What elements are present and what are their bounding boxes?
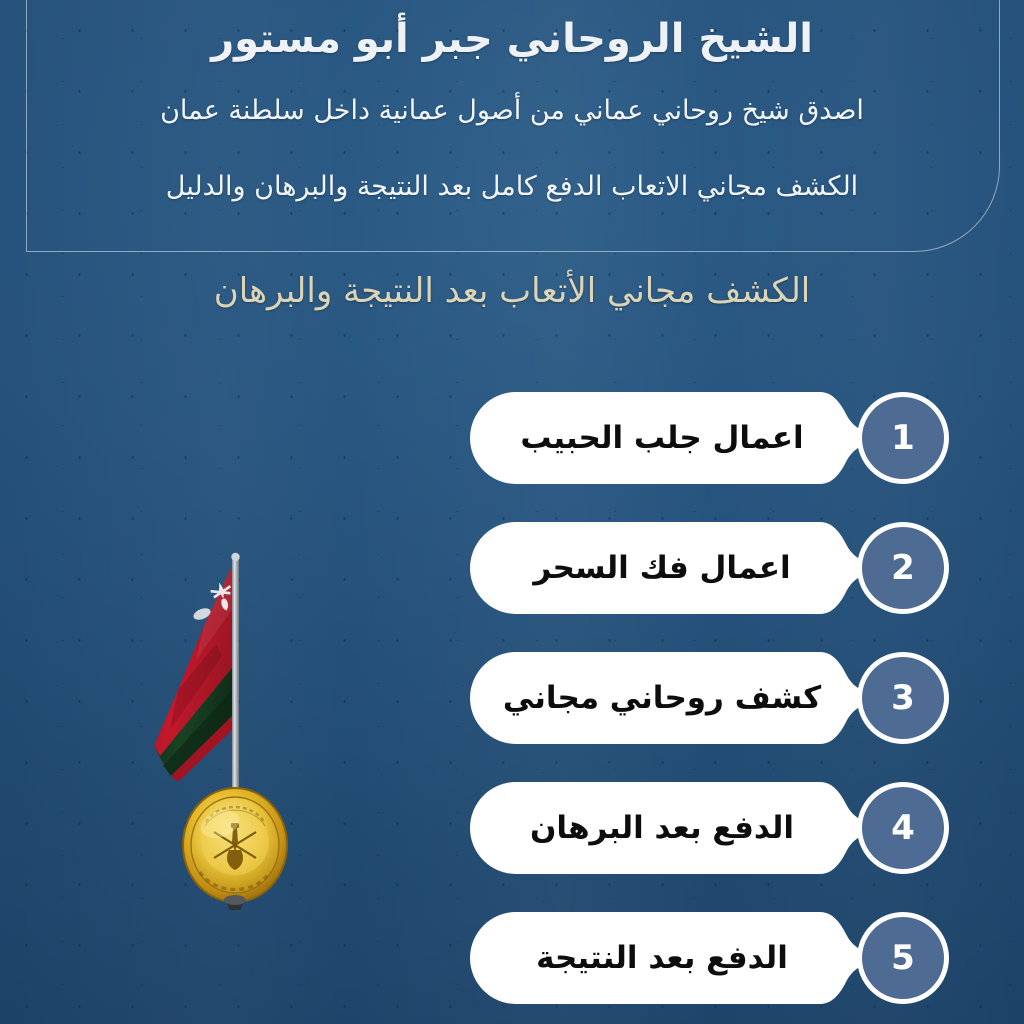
list-item-number: 5 xyxy=(857,912,949,1004)
list-item-label: كشف روحاني مجاني xyxy=(482,652,842,744)
gold-tagline: الكشف مجاني الأتعاب بعد النتيجة والبرهان xyxy=(0,268,1024,316)
list-item[interactable]: الدفع بعد النتيجة 5 xyxy=(0,912,1024,1004)
page-title: الشيخ الروحاني جبر أبو مستور xyxy=(0,0,1024,64)
list-item-label: اعمال جلب الحبيب xyxy=(482,392,842,484)
list-item-number: 4 xyxy=(857,782,949,874)
header-subline-2: الكشف مجاني الاتعاب الدفع كامل بعد النتي… xyxy=(0,166,1024,208)
list-item-label: اعمال فك السحر xyxy=(482,522,842,614)
header-block: الشيخ الروحاني جبر أبو مستور اصدق شيخ رو… xyxy=(0,0,1024,208)
list-item[interactable]: كشف روحاني مجاني 3 xyxy=(0,652,1024,744)
list-item[interactable]: اعمال جلب الحبيب 1 xyxy=(0,392,1024,484)
services-list: اعمال جلب الحبيب 1 اعمال فك السحر 2 xyxy=(0,392,1024,1004)
list-item-label: الدفع بعد النتيجة xyxy=(482,912,842,1004)
list-item-number: 2 xyxy=(857,522,949,614)
list-item-label: الدفع بعد البرهان xyxy=(482,782,842,874)
list-item-number: 1 xyxy=(857,392,949,484)
list-item-number: 3 xyxy=(857,652,949,744)
header-subline-1: اصدق شيخ روحاني عماني من أصول عمانية داخ… xyxy=(0,90,1024,132)
list-item[interactable]: اعمال فك السحر 2 xyxy=(0,522,1024,614)
poster-canvas: الشيخ الروحاني جبر أبو مستور اصدق شيخ رو… xyxy=(0,0,1024,1024)
list-item[interactable]: الدفع بعد البرهان 4 xyxy=(0,782,1024,874)
